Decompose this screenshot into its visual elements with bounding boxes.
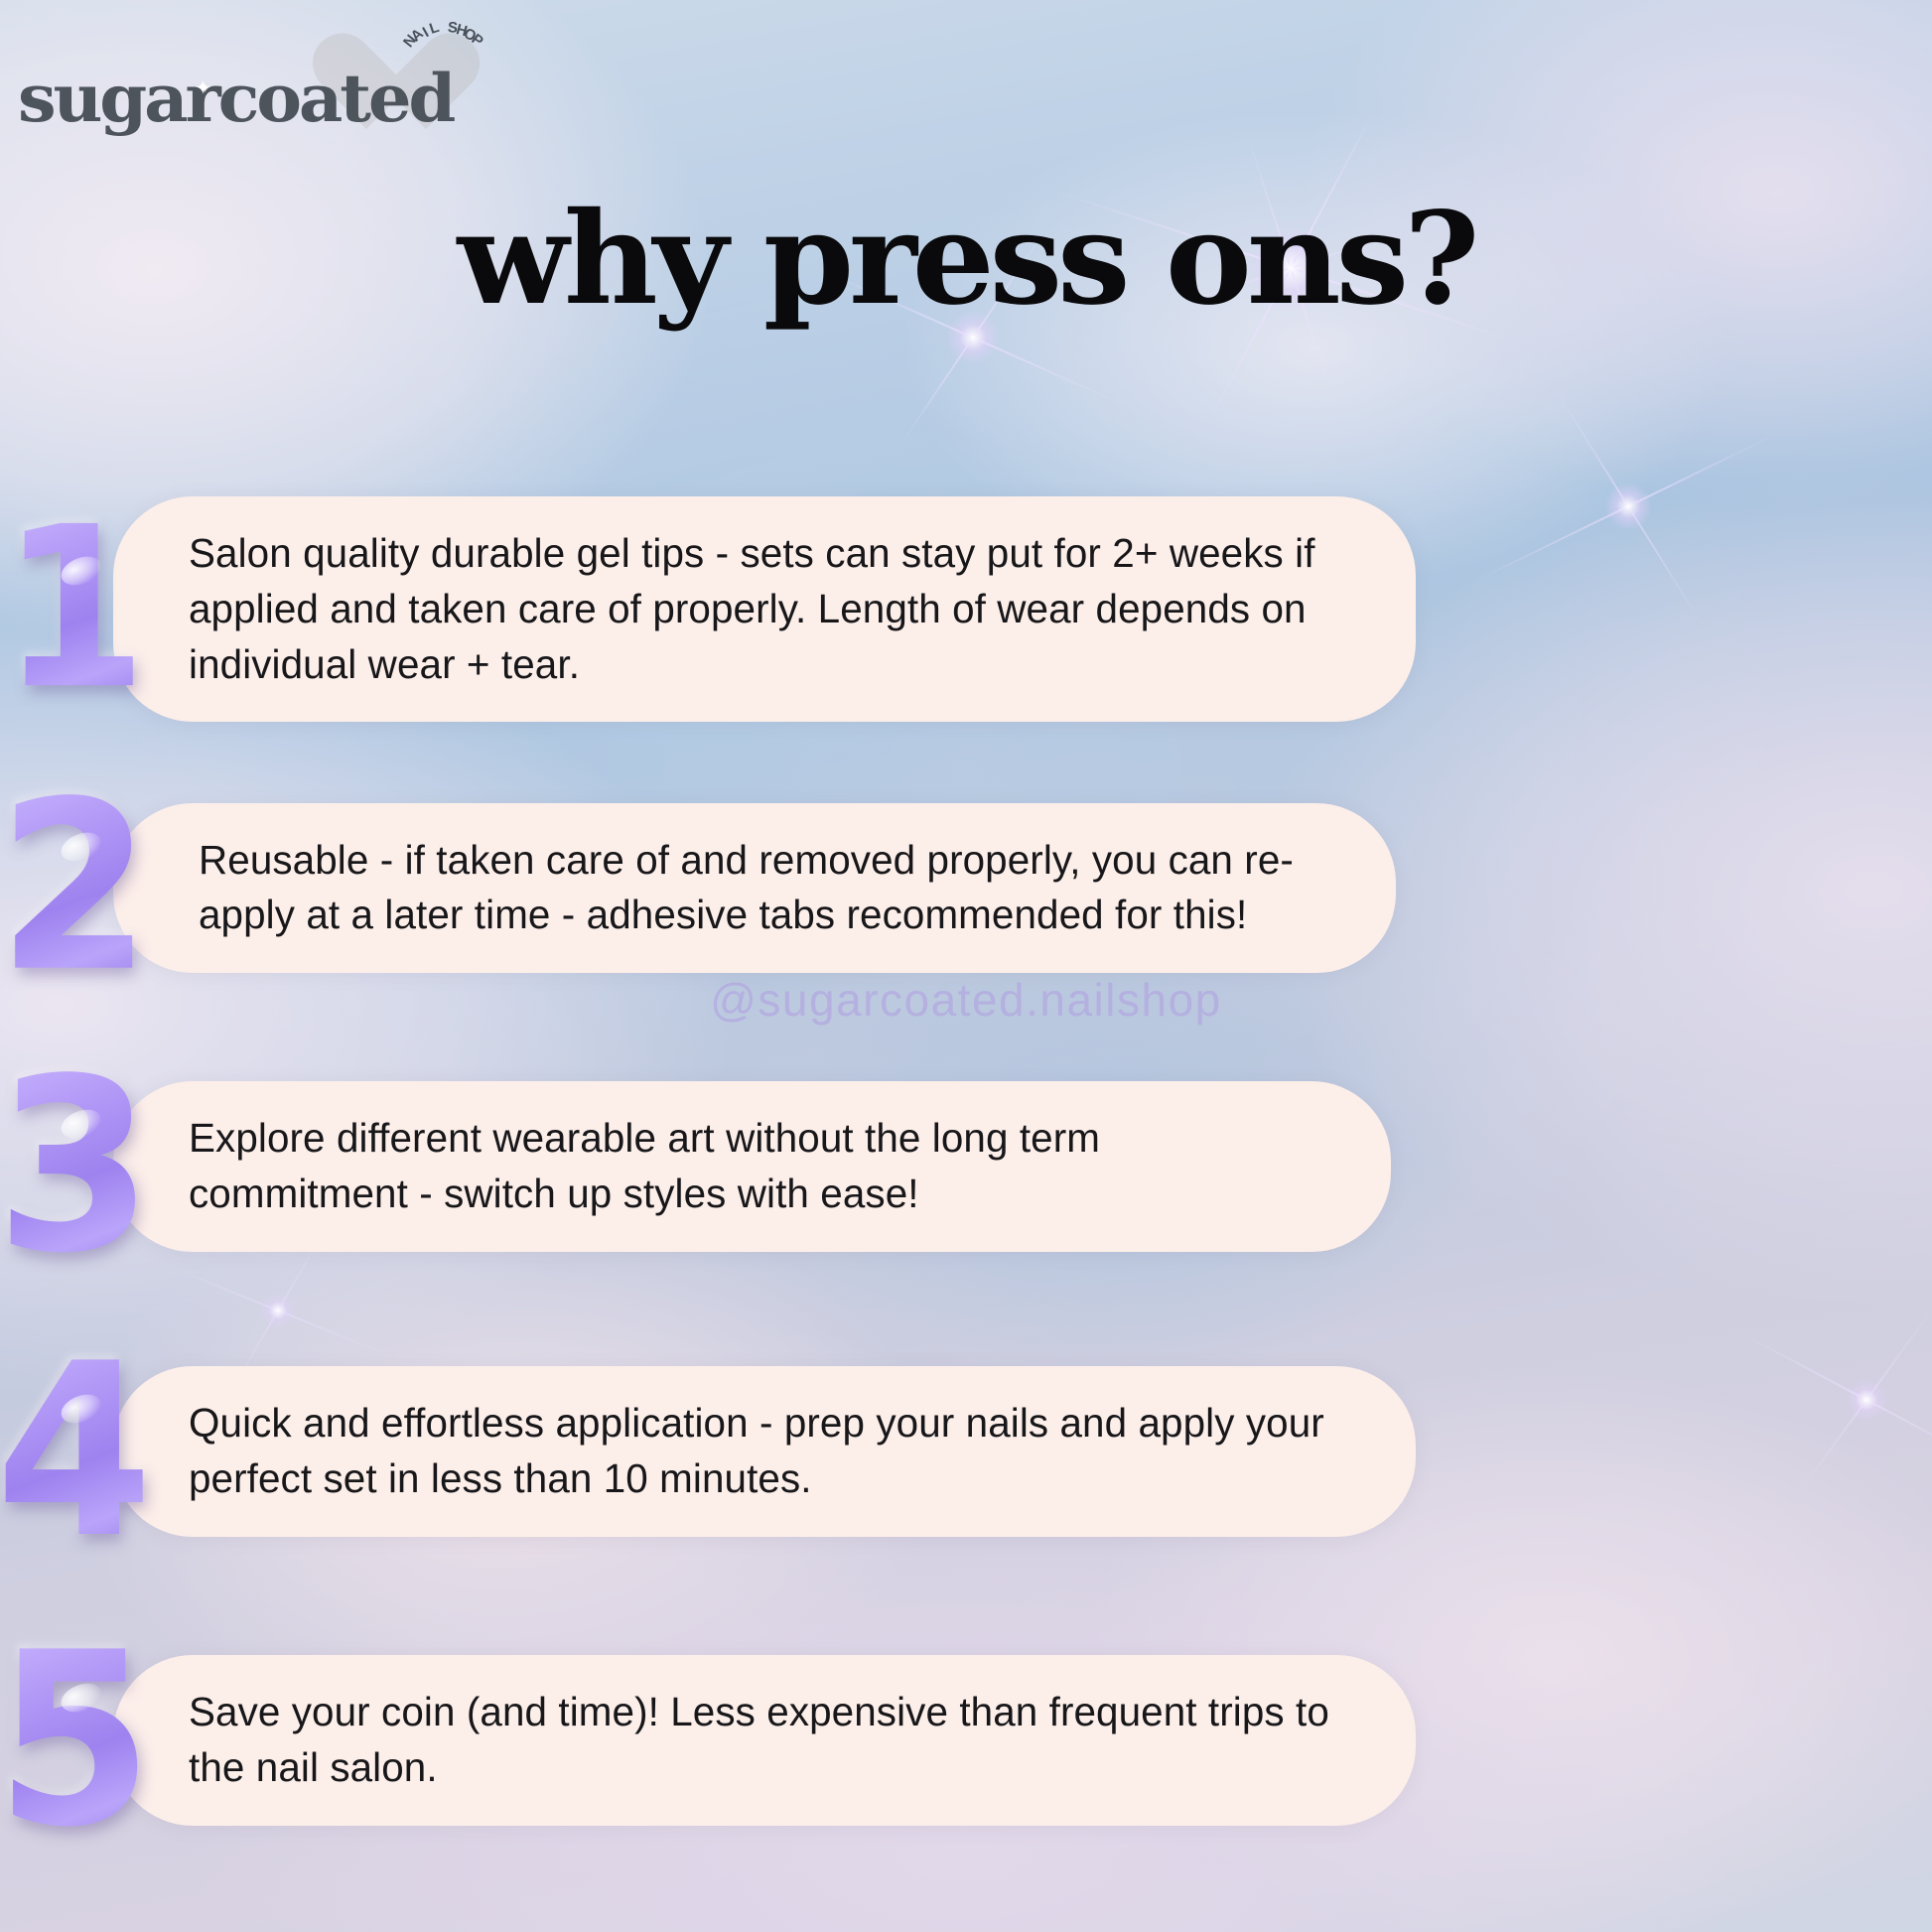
benefit-card: Quick and effortless application - prep …: [113, 1366, 1416, 1537]
step-number-badge: 3: [0, 1059, 149, 1273]
infographic-canvas: sugarcoated ✦ NAIL SHOP why press ons? @…: [0, 0, 1932, 1932]
benefit-text: Reusable - if taken care of and removed …: [199, 833, 1323, 944]
sparkle-icon: ✦: [195, 79, 212, 97]
step-number-badge: 4: [0, 1344, 149, 1558]
list-item: 4 Quick and effortless application - pre…: [0, 1344, 1932, 1558]
list-item: 5 Save your coin (and time)! Less expens…: [0, 1633, 1932, 1847]
benefit-text: Explore different wearable art without t…: [189, 1111, 1318, 1222]
list-item: 1 Salon quality durable gel tips - sets …: [0, 496, 1932, 722]
benefit-text: Save your coin (and time)! Less expensiv…: [189, 1685, 1342, 1796]
step-number: 4: [0, 1331, 153, 1571]
step-number: 2: [0, 771, 151, 1005]
benefit-card: Explore different wearable art without t…: [113, 1081, 1391, 1252]
step-number: 5: [0, 1620, 153, 1860]
logo-arc-text: NAIL SHOP: [395, 20, 504, 129]
step-number: 3: [0, 1046, 153, 1286]
benefit-card: Save your coin (and time)! Less expensiv…: [113, 1655, 1416, 1826]
brand-logo: sugarcoated ✦ NAIL SHOP: [10, 14, 477, 153]
step-number: 1: [1, 498, 148, 721]
benefit-text: Salon quality durable gel tips - sets ca…: [189, 526, 1342, 692]
page-title: why press ons?: [0, 195, 1932, 325]
step-number-badge: 5: [0, 1633, 149, 1847]
benefit-text: Quick and effortless application - prep …: [189, 1396, 1342, 1507]
step-number-badge: 2: [0, 783, 149, 992]
benefit-card: Reusable - if taken care of and removed …: [113, 803, 1396, 974]
benefit-card: Salon quality durable gel tips - sets ca…: [113, 496, 1416, 722]
step-number-badge: 1: [0, 510, 149, 709]
benefits-list: 1 Salon quality durable gel tips - sets …: [0, 496, 1932, 1847]
list-item: 2 Reusable - if taken care of and remove…: [0, 783, 1932, 992]
logo-wordmark: sugarcoated: [18, 60, 453, 137]
list-item: 3 Explore different wearable art without…: [0, 1059, 1932, 1273]
